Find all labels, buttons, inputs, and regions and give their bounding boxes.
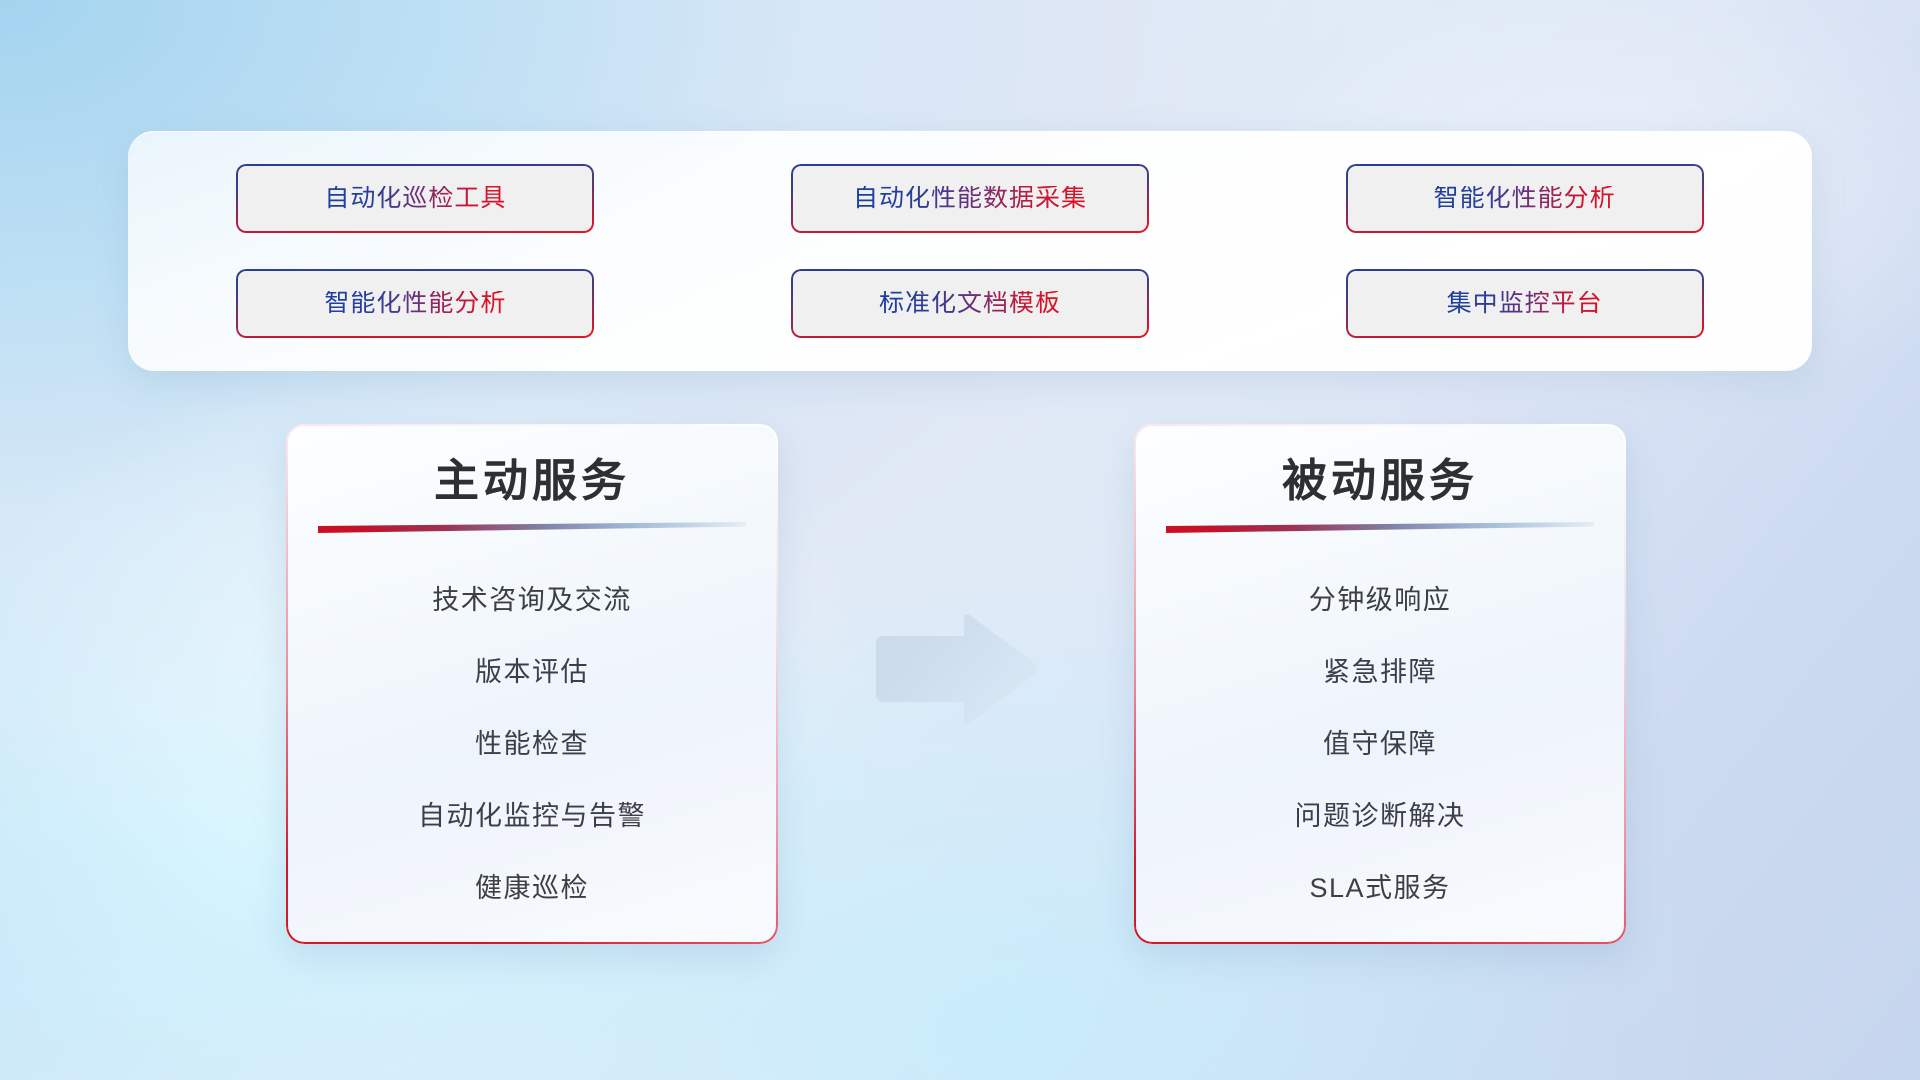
title-divider	[318, 522, 746, 538]
capability-pill[interactable]: 智能化性能分析	[1346, 164, 1704, 233]
capability-pill[interactable]: 集中监控平台	[1346, 269, 1704, 338]
capability-pill-label: 智能化性能分析	[324, 291, 506, 316]
capability-pill-label: 自动化巡检工具	[324, 186, 506, 211]
capability-pill[interactable]: 自动化巡检工具	[236, 164, 594, 233]
capabilities-panel: 自动化巡检工具 自动化性能数据采集 智能化性能分析 智能化性能分析 标准化文档模…	[128, 131, 1812, 371]
card-item-list: 技术咨询及交流 版本评估 性能检查 自动化监控与告警 健康巡检	[286, 564, 778, 924]
capability-pill-label: 集中监控平台	[1447, 291, 1603, 316]
card-item[interactable]: 自动化监控与告警	[418, 780, 646, 852]
card-item[interactable]: 分钟级响应	[1309, 564, 1452, 636]
card-item[interactable]: 值守保障	[1323, 708, 1437, 780]
card-item[interactable]: 问题诊断解决	[1295, 780, 1466, 852]
card-item[interactable]: 性能检查	[475, 708, 589, 780]
card-title: 被动服务	[1282, 454, 1478, 508]
capability-pill-label: 智能化性能分析	[1434, 186, 1616, 211]
service-card-proactive: 主动服务 技术咨询及交流 版本评估	[286, 424, 778, 944]
capability-pill-label: 自动化性能数据采集	[853, 186, 1087, 211]
card-title: 主动服务	[434, 454, 630, 508]
card-item[interactable]: 健康巡检	[475, 852, 589, 924]
card-item-list: 分钟级响应 紧急排障 值守保障 问题诊断解决 SLA式服务	[1134, 564, 1626, 924]
card-item[interactable]: SLA式服务	[1309, 852, 1450, 924]
service-card-reactive: 被动服务 分钟级响应 紧急排障	[1134, 424, 1626, 944]
capability-pill-label: 标准化文档模板	[879, 291, 1061, 316]
card-item[interactable]: 技术咨询及交流	[432, 564, 632, 636]
capability-pill[interactable]: 自动化性能数据采集	[791, 164, 1149, 233]
capability-pill[interactable]: 标准化文档模板	[791, 269, 1149, 338]
capability-pill[interactable]: 智能化性能分析	[236, 269, 594, 338]
title-divider	[1166, 522, 1594, 538]
card-item[interactable]: 版本评估	[475, 636, 589, 708]
arrow-right-icon	[868, 610, 1040, 728]
card-item[interactable]: 紧急排障	[1323, 636, 1437, 708]
